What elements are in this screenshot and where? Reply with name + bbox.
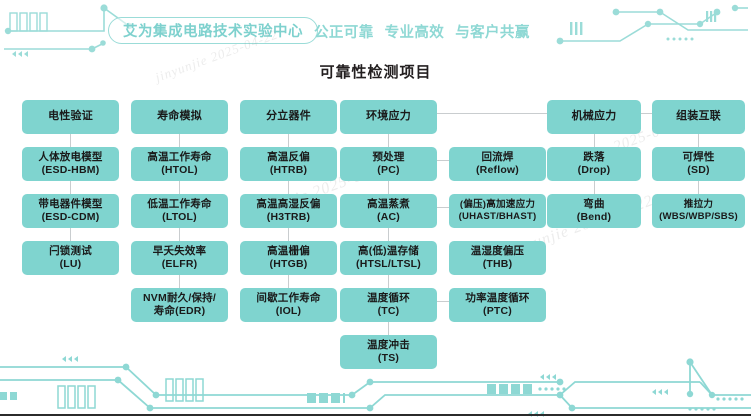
page-title: 可靠性检测项目 <box>0 61 751 82</box>
bottom-rule <box>0 414 751 416</box>
node-label-line1: 高(低)温存储 <box>358 245 419 258</box>
node-drop[interactable]: 跌落 (Drop) <box>547 147 641 181</box>
node-column-head-assembly[interactable]: 组装互联 <box>652 100 745 134</box>
node-column-head-discrete[interactable]: 分立器件 <box>240 100 337 134</box>
node-wbs-wbp-sbs[interactable]: 推拉力 (WBS/WBP/SBS) <box>652 194 745 228</box>
node-label-line2: (THB) <box>483 258 513 271</box>
node-label-line1: 低温工作寿命 <box>147 198 211 211</box>
node-label-line1: 高温蒸煮 <box>367 198 410 211</box>
node-uhast-bhast[interactable]: (偏压)高加速应力 (UHAST/BHAST) <box>449 194 546 228</box>
node-label-line1: 弯曲 <box>583 198 604 211</box>
node-label-line2: (UHAST/BHAST) <box>459 211 537 223</box>
connector-c6-r1 <box>594 181 595 194</box>
node-bend[interactable]: 弯曲 (Bend) <box>547 194 641 228</box>
node-label-line1: 可焊性 <box>682 151 714 164</box>
node-column-head-mechanical[interactable]: 机械应力 <box>547 100 641 134</box>
node-latch-up[interactable]: 闩锁测试 (LU) <box>22 241 119 275</box>
slogan-0: 公正可靠 <box>314 21 374 42</box>
node-column-head-electrical[interactable]: 电性验证 <box>22 100 119 134</box>
node-htol[interactable]: 高温工作寿命 (HTOL) <box>131 147 228 181</box>
node-ltol[interactable]: 低温工作寿命 (LTOL) <box>131 194 228 228</box>
node-label-line2: (H3TRB) <box>267 211 310 224</box>
node-ts[interactable]: 温度冲击 (TS) <box>340 335 437 369</box>
node-label-line1: 预处理 <box>372 151 404 164</box>
connector-c4-r0 <box>388 134 389 147</box>
node-label-line2: (HTOL) <box>161 164 198 177</box>
node-label: 组装互联 <box>676 110 721 123</box>
node-label-line1: 回流焊 <box>481 151 513 164</box>
reliability-test-flowchart: 电性验证 人体放电模型 (ESD-HBM) 带电器件模型 (ESD-CDM) 闩… <box>0 92 751 382</box>
node-label-line1: 高温反偏 <box>267 151 310 164</box>
node-label: 分立器件 <box>266 110 311 123</box>
node-label-line2: (ELFR) <box>162 258 198 271</box>
node-label-line1: 温度循环 <box>367 292 410 305</box>
slogan-group: 公正可靠 专业高效 与客户共赢 <box>314 20 530 42</box>
connector-c1-r0 <box>70 134 71 147</box>
connector-c3-r0 <box>288 134 289 147</box>
connector-mech-to-assembly <box>640 113 652 114</box>
node-label-line1: 高温栅偏 <box>267 245 310 258</box>
node-ptc[interactable]: 功率温度循环 (PTC) <box>449 288 546 322</box>
node-label-line2: (HTSL/LTSL) <box>356 258 421 271</box>
node-label-line1: 高温高湿反偏 <box>256 198 320 211</box>
node-label-line2: (ESD-HBM) <box>42 164 100 177</box>
connector-env-to-mech <box>437 113 547 114</box>
node-label: 机械应力 <box>572 110 617 123</box>
node-label-line1: 功率温度循环 <box>465 292 529 305</box>
connector-c3-r1 <box>288 181 289 194</box>
connector-c2-r2 <box>179 228 180 241</box>
node-esd-cdm[interactable]: 带电器件模型 (ESD-CDM) <box>22 194 119 228</box>
node-label-line1: 闩锁测试 <box>49 245 92 258</box>
connector-tc-to-ptc <box>437 301 449 302</box>
node-elfr[interactable]: 早夭失效率 (ELFR) <box>131 241 228 275</box>
node-solderability[interactable]: 可焊性 (SD) <box>652 147 745 181</box>
node-label: 电性验证 <box>48 110 93 123</box>
node-label-line2: (Drop) <box>578 164 611 177</box>
connector-ac-to-uhast <box>437 207 449 208</box>
node-thb[interactable]: 温湿度偏压 (THB) <box>449 241 546 275</box>
node-esd-hbm[interactable]: 人体放电模型 (ESD-HBM) <box>22 147 119 181</box>
node-label-line2: (TS) <box>378 352 399 365</box>
node-label-line2: (Reflow) <box>476 164 519 177</box>
connector-c3-r3 <box>288 275 289 288</box>
node-label-line2: (HTRB) <box>270 164 307 177</box>
node-label-line2: (LU) <box>60 258 82 271</box>
node-iol[interactable]: 间歇工作寿命 (IOL) <box>240 288 337 322</box>
node-label-line2: (PC) <box>377 164 399 177</box>
connector-c1-r2 <box>70 228 71 241</box>
node-label-line1: 高温工作寿命 <box>147 151 211 164</box>
node-label-line1: 间歇工作寿命 <box>256 292 320 305</box>
node-tc[interactable]: 温度循环 (TC) <box>340 288 437 322</box>
node-label-line2: (SD) <box>687 164 709 177</box>
lab-name-badge: 艾为集成电路技术实验中心 <box>108 17 318 44</box>
node-label-line2: (LTOL) <box>162 211 197 224</box>
connector-c4-r4 <box>388 322 389 335</box>
connector-c2-r3 <box>179 275 180 288</box>
connector-c4-r2 <box>388 228 389 241</box>
node-label-line1: 温湿度偏压 <box>471 245 525 258</box>
node-label-line2: (ESD-CDM) <box>42 211 100 224</box>
node-label-line1: NVM耐久/保持/ <box>143 292 216 305</box>
node-label: 环境应力 <box>366 110 411 123</box>
node-pc[interactable]: 预处理 (PC) <box>340 147 437 181</box>
node-label-line1: 推拉力 <box>684 199 713 211</box>
node-label-line1: 带电器件模型 <box>38 198 102 211</box>
node-label-line2: (HTGB) <box>270 258 308 271</box>
connector-c6-r0 <box>594 134 595 147</box>
slogan-1: 专业高效 <box>385 21 445 42</box>
node-label-line2: 寿命(EDR) <box>154 305 206 318</box>
node-htgb[interactable]: 高温栅偏 (HTGB) <box>240 241 337 275</box>
node-label-line2: (Bend) <box>577 211 611 224</box>
node-column-head-lifetime[interactable]: 寿命模拟 <box>131 100 228 134</box>
node-label-line1: 温度冲击 <box>367 339 410 352</box>
node-reflow[interactable]: 回流焊 (Reflow) <box>449 147 546 181</box>
connector-c2-r0 <box>179 134 180 147</box>
connector-c7-r0 <box>698 134 699 147</box>
node-h3trb[interactable]: 高温高湿反偏 (H3TRB) <box>240 194 337 228</box>
node-label-line2: (PTC) <box>483 305 512 318</box>
connector-c3-r2 <box>288 228 289 241</box>
node-column-head-environmental[interactable]: 环境应力 <box>340 100 437 134</box>
slide-canvas: 艾为集成电路技术实验中心 公正可靠 专业高效 与客户共赢 可靠性检测项目 jin… <box>0 0 751 419</box>
lab-name-text: 艾为集成电路技术实验中心 <box>123 20 303 41</box>
node-label-line2: (WBS/WBP/SBS) <box>659 211 738 223</box>
node-label-line2: (IOL) <box>276 305 302 318</box>
connector-c4-r3 <box>388 275 389 288</box>
connector-pc-to-reflow <box>437 160 449 161</box>
node-label: 寿命模拟 <box>157 110 202 123</box>
node-htrb[interactable]: 高温反偏 (HTRB) <box>240 147 337 181</box>
node-htsl-ltsl[interactable]: 高(低)温存储 (HTSL/LTSL) <box>340 241 437 275</box>
node-label-line1: (偏压)高加速应力 <box>460 199 535 211</box>
node-label-line2: (TC) <box>378 305 400 318</box>
slogan-2: 与客户共赢 <box>455 21 530 42</box>
connector-c2-r1 <box>179 181 180 194</box>
node-label-line2: (AC) <box>377 211 400 224</box>
connector-c7-r1 <box>698 181 699 194</box>
node-ac[interactable]: 高温蒸煮 (AC) <box>340 194 437 228</box>
node-label-line1: 人体放电模型 <box>38 151 102 164</box>
node-label-line1: 早夭失效率 <box>153 245 207 258</box>
connector-c1-r1 <box>70 181 71 194</box>
node-label-line1: 跌落 <box>583 151 604 164</box>
node-edr[interactable]: NVM耐久/保持/ 寿命(EDR) <box>131 288 228 322</box>
connector-c4-r1 <box>388 181 389 194</box>
